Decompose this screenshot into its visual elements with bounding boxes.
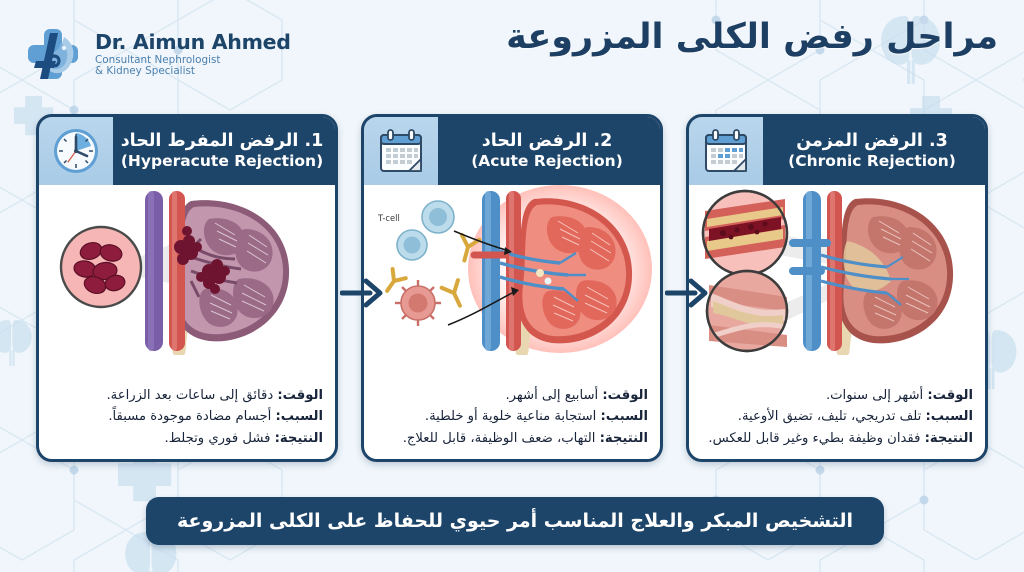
card-header: 3. الرفض المزمن (Chronic Rejection) <box>689 117 985 185</box>
stages-container: 1. الرفض المفرط الحاد (Hyperacute Reject… <box>0 114 1024 464</box>
body-row: الوقت: أسابيع إلى أشهر. <box>376 385 648 406</box>
card-body: الوقت: دقائق إلى ساعات بعد الزراعة. السب… <box>39 381 335 459</box>
logo-doctor-name: Dr. Aimun Ahmed <box>95 31 291 53</box>
body-row: الوقت: أشهر إلى سنوات. <box>701 385 973 406</box>
logo-subtitle-line2: & Kidney Specialist <box>95 66 291 77</box>
arrow-right-icon <box>665 276 709 310</box>
key-message-banner: التشخيص المبكر والعلاج المناسب أمر حيوي … <box>146 497 884 545</box>
t-cell-label: T-cell <box>377 213 400 223</box>
row-label: السبب: <box>275 409 323 424</box>
page-header: Dr. Aimun Ahmed Consultant Nephrologist … <box>0 0 1024 108</box>
row-value: دقائق إلى ساعات بعد الزراعة. <box>106 388 277 403</box>
clock-icon <box>39 117 113 185</box>
row-value: فشل فوري وتجلط. <box>165 431 275 446</box>
card-title-ar: 1. الرفض المفرط الحاد <box>117 131 327 152</box>
page-title: مراحل رفض الكلى المزروعة <box>398 16 998 60</box>
row-value: أشهر إلى سنوات. <box>826 388 927 403</box>
row-label: النتيجة: <box>600 431 648 446</box>
card-header: 2. الرفض الحاد (Acute Rejection) <box>364 117 660 185</box>
calendar-icon <box>689 117 763 185</box>
row-label: النتيجة: <box>275 431 323 446</box>
row-value: أجسام مضادة موجودة مسبقاً. <box>108 409 275 424</box>
card-title-en: (Chronic Rejection) <box>767 152 977 171</box>
row-label: الوقت: <box>602 388 648 403</box>
stage-card-chronic[interactable]: 3. الرفض المزمن (Chronic Rejection) <box>686 114 988 462</box>
stage-card-acute[interactable]: 2. الرفض الحاد (Acute Rejection) <box>361 114 663 462</box>
calendar-icon <box>364 117 438 185</box>
card-title-en: (Hyperacute Rejection) <box>117 152 327 171</box>
row-value: تلف تدريجي، تليف، تضيق الأوعية. <box>738 409 926 424</box>
fibrotic-kidney-illustration <box>689 185 985 381</box>
card-body: الوقت: أسابيع إلى أشهر. السبب: استجابة م… <box>364 381 660 459</box>
brand-logo: Dr. Aimun Ahmed Consultant Nephrologist … <box>20 21 291 87</box>
card-title-en: (Acute Rejection) <box>442 152 652 171</box>
kidney-cross-logo-icon <box>20 21 86 87</box>
body-row: الوقت: دقائق إلى ساعات بعد الزراعة. <box>51 385 323 406</box>
row-label: السبب: <box>600 409 648 424</box>
row-value: استجابة مناعية خلوية أو خلطية. <box>425 409 601 424</box>
body-row: السبب: أجسام مضادة موجودة مسبقاً. <box>51 406 323 427</box>
row-value: التهاب، ضعف الوظيفة، قابل للعلاج. <box>403 431 600 446</box>
arrow-right-icon <box>340 276 384 310</box>
body-row: النتيجة: فقدان وظيفة بطيء وغير قابل للعك… <box>701 428 973 449</box>
card-header: 1. الرفض المفرط الحاد (Hyperacute Reject… <box>39 117 335 185</box>
body-row: السبب: استجابة مناعية خلوية أو خلطية. <box>376 406 648 427</box>
body-row: السبب: تلف تدريجي، تليف، تضيق الأوعية. <box>701 406 973 427</box>
row-label: الوقت: <box>277 388 323 403</box>
row-value: فقدان وظيفة بطيء وغير قابل للعكس. <box>708 431 924 446</box>
row-label: النتيجة: <box>925 431 973 446</box>
body-row: النتيجة: التهاب، ضعف الوظيفة، قابل للعلا… <box>376 428 648 449</box>
card-body: الوقت: أشهر إلى سنوات. السبب: تلف تدريجي… <box>689 381 985 459</box>
row-value: أسابيع إلى أشهر. <box>505 388 602 403</box>
row-label: الوقت: <box>927 388 973 403</box>
body-row: النتيجة: فشل فوري وتجلط. <box>51 428 323 449</box>
card-title-ar: 3. الرفض المزمن <box>767 131 977 152</box>
stage-card-hyperacute[interactable]: 1. الرفض المفرط الحاد (Hyperacute Reject… <box>36 114 338 462</box>
kidney-thrombosis-illustration <box>39 185 335 381</box>
card-title-ar: 2. الرفض الحاد <box>442 131 652 152</box>
inflamed-kidney-illustration: T-cell <box>364 185 660 381</box>
row-label: السبب: <box>925 409 973 424</box>
